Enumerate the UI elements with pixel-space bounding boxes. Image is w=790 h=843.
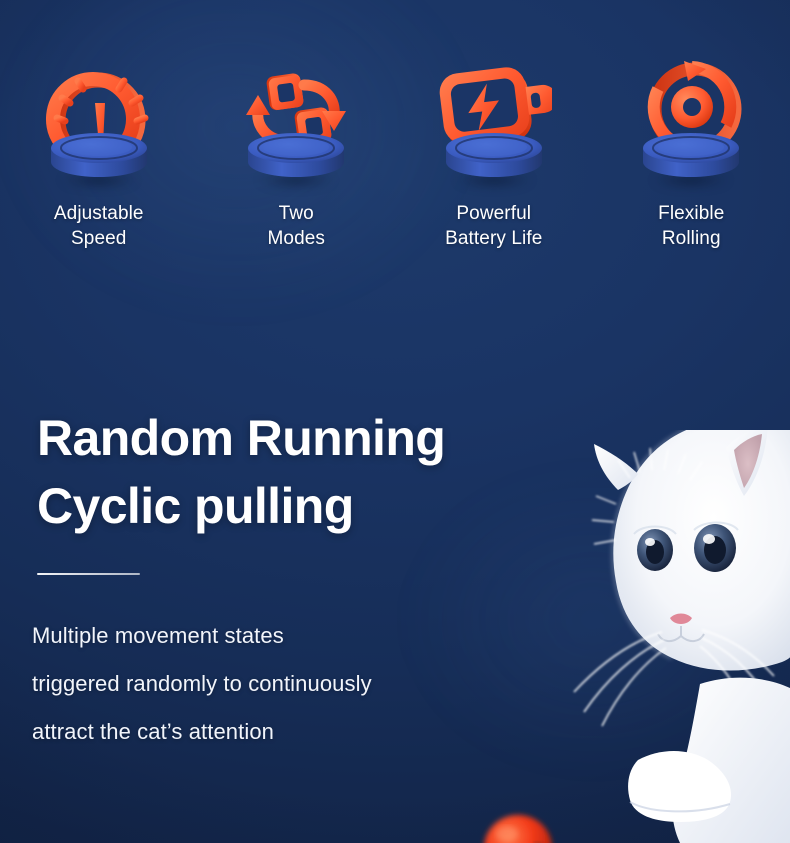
icon-stage bbox=[616, 55, 766, 195]
pedestal-disc bbox=[444, 132, 544, 185]
feature-label: Two Modes bbox=[267, 201, 325, 251]
icon-stage bbox=[24, 55, 174, 195]
pedestal-disc bbox=[641, 132, 741, 185]
feature-item-flexible-rolling[interactable]: Flexible Rolling bbox=[593, 55, 790, 251]
pedestal-disc bbox=[49, 132, 149, 185]
product-feature-poster: Adjustable Speed bbox=[0, 0, 790, 843]
hero-body-text: Multiple movement states triggered rando… bbox=[32, 612, 372, 756]
icon-stage bbox=[419, 55, 569, 195]
feature-row: Adjustable Speed bbox=[0, 55, 790, 251]
hero-headline: Random Running Cyclic pulling bbox=[37, 404, 445, 540]
feature-item-two-modes[interactable]: Two Modes bbox=[198, 55, 396, 251]
feature-item-battery-life[interactable]: Powerful Battery Life bbox=[395, 55, 593, 251]
feature-label: Powerful Battery Life bbox=[445, 201, 542, 251]
white-cat-photo bbox=[530, 430, 790, 843]
pedestal-disc bbox=[246, 132, 346, 185]
icon-stage bbox=[221, 55, 371, 195]
feature-label: Adjustable Speed bbox=[54, 201, 144, 251]
red-green-toy-ball bbox=[474, 796, 570, 843]
feature-item-adjustable-speed[interactable]: Adjustable Speed bbox=[0, 55, 198, 251]
feature-label: Flexible Rolling bbox=[658, 201, 724, 251]
hero-divider-rule bbox=[37, 573, 140, 575]
